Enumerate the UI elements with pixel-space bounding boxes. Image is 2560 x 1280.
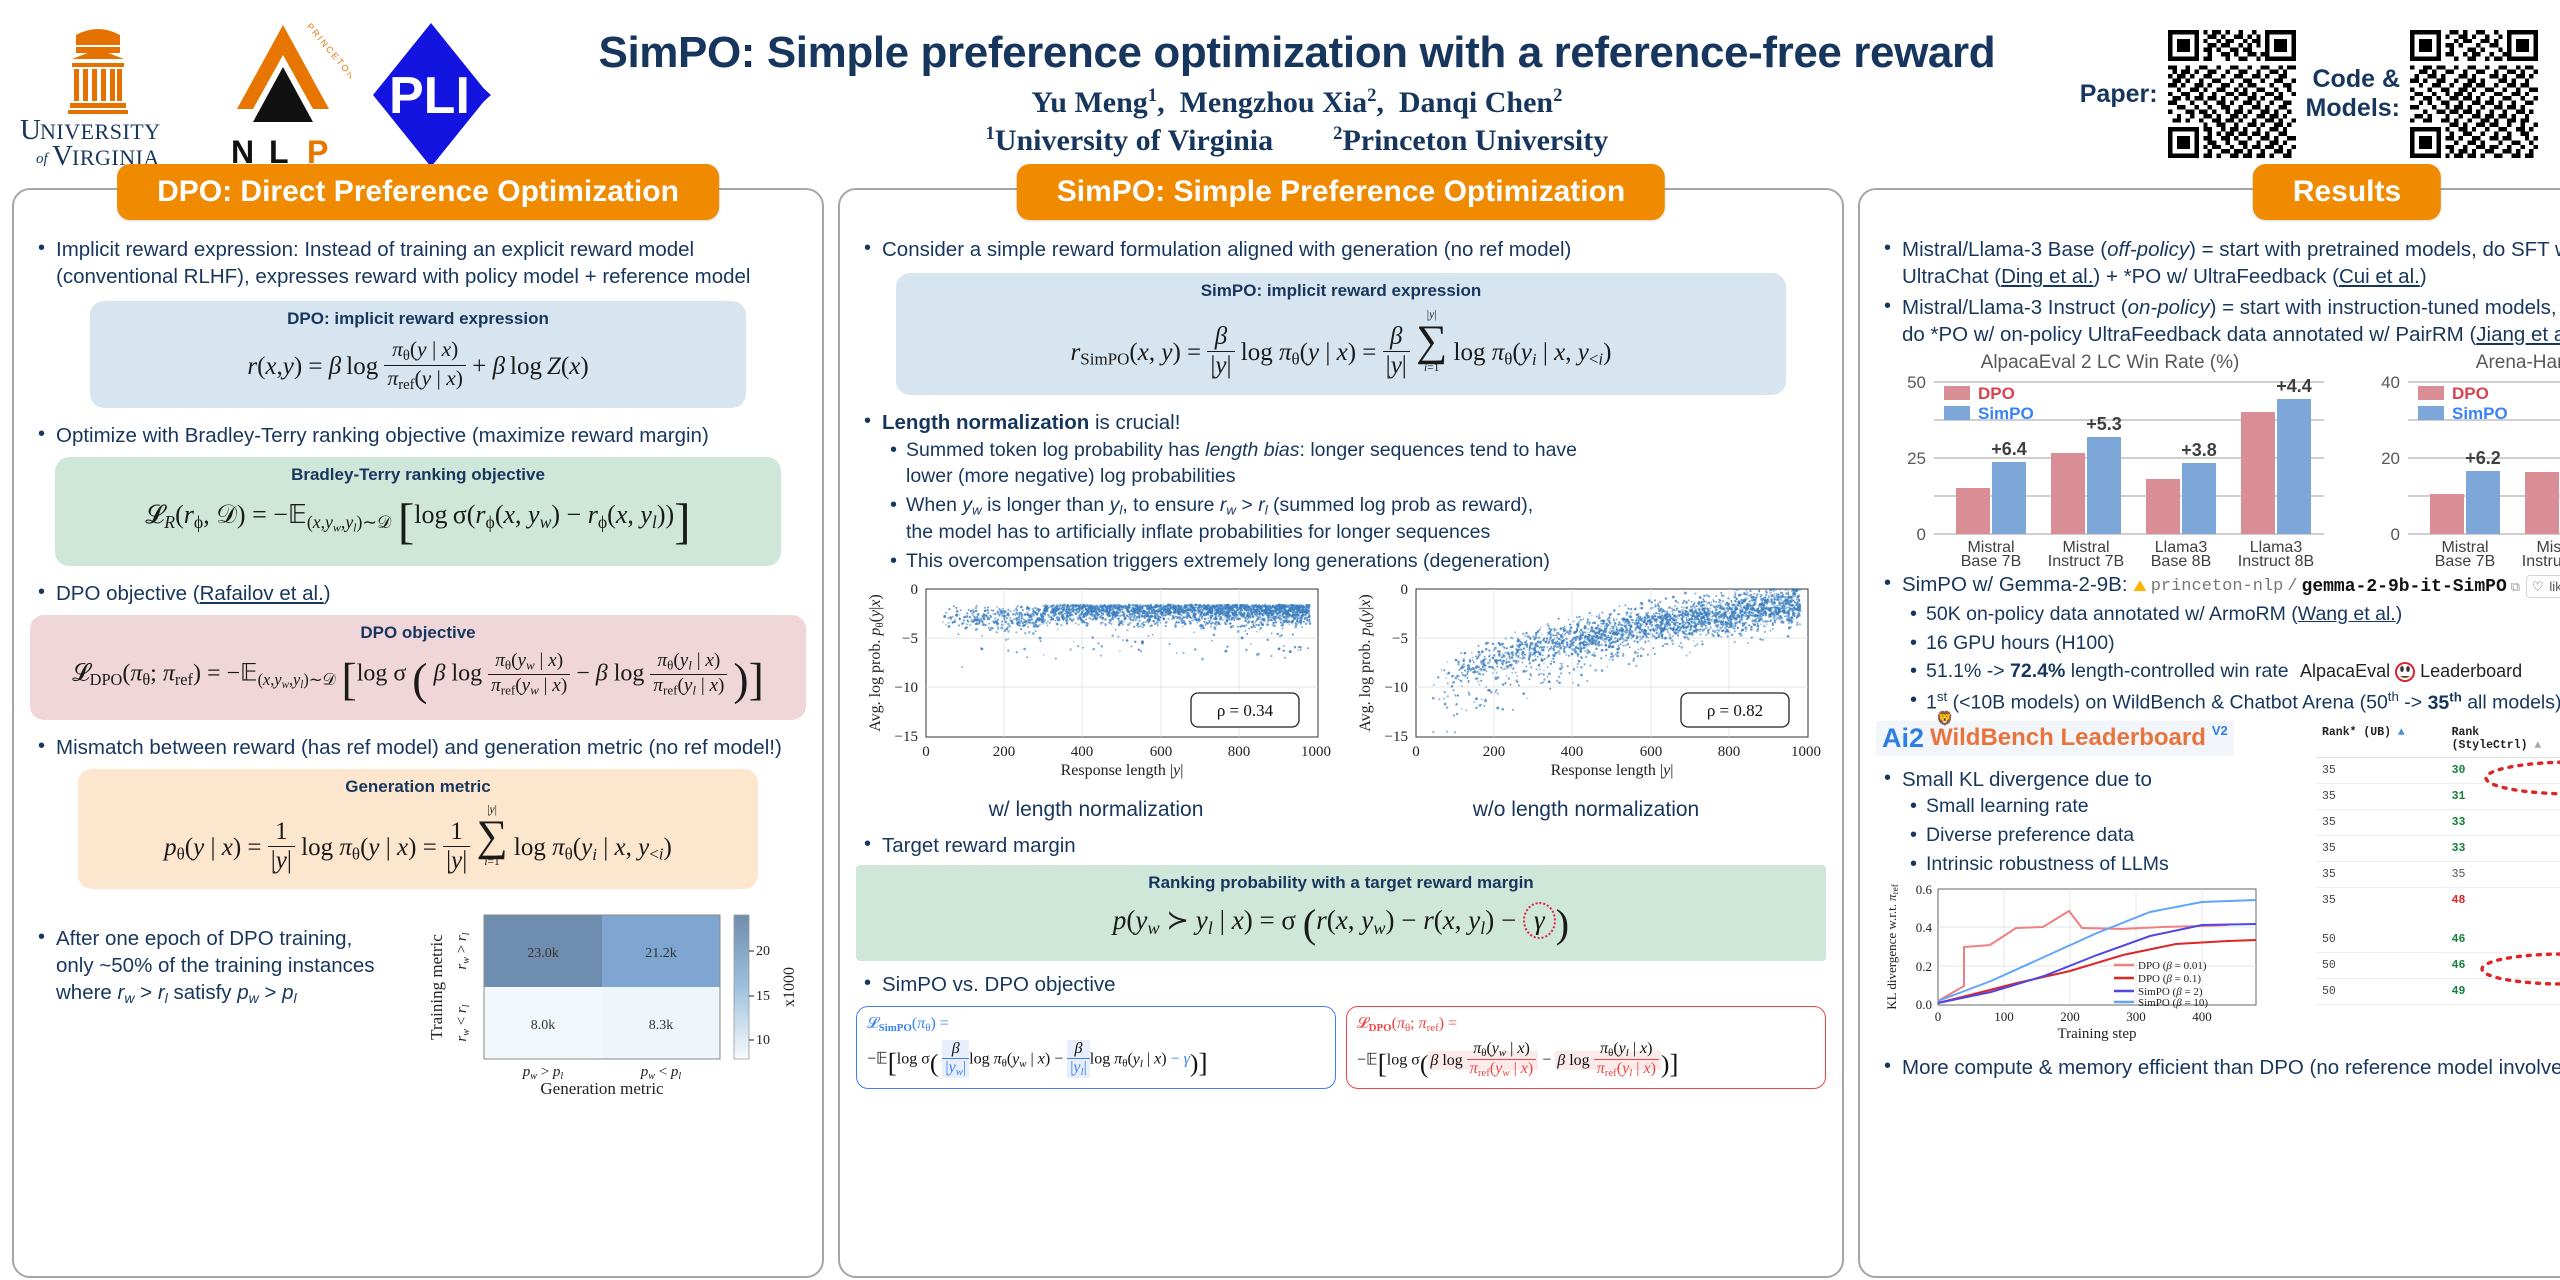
pli-logo: PLI <box>369 17 494 172</box>
huggingface-icon: ⛰ <box>2133 577 2146 598</box>
cell-rank-stylectrl: 49 <box>2446 978 2560 1004</box>
rafailov-link[interactable]: Rafailov et al. <box>200 582 324 605</box>
heart-icon: ♡ <box>2532 578 2544 595</box>
arena-hard-bar-chart: Arena-Hard Win Rate (%) 40 20 0 DPO SimP… <box>2350 352 2560 567</box>
length-norm-bold: Length normalization <box>882 411 1089 434</box>
poster-columns: DPO: Direct Preference Optimization Impl… <box>0 188 2560 1278</box>
bradley-terry-box: Bradley-Terry ranking objective 𝓛R(rϕ, 𝒟… <box>55 457 781 566</box>
r2-l1a: Mistral/Llama-3 Instruct ( <box>1902 296 2128 319</box>
list-item: Implicit reward expression: Instead of t… <box>30 236 806 291</box>
sub1-l2: lower (more negative) log probabilities <box>906 465 1236 487</box>
list-item: Mistral/Llama-3 Base (off-policy) = star… <box>1876 236 2560 291</box>
column-simpo-title: SimPO: Simple Preference Optimization <box>1017 164 1665 220</box>
bradley-terry-equation: 𝓛R(rϕ, 𝒟) = −𝔼(x,yw,yl)∼𝒟 [log σ(rϕ(x, y… <box>69 486 767 556</box>
svg-text:PLI: PLI <box>389 67 470 125</box>
simpo-bullet-list-4: SimPO vs. DPO objective <box>856 971 1826 998</box>
bradley-terry-caption: Bradley-Terry ranking objective <box>69 465 767 485</box>
cell-rank-stylectrl: 31 <box>2446 783 2560 809</box>
gemma-label: SimPO w/ Gemma-2-9B: <box>1902 573 2128 596</box>
list-item: Optimize with Bradley-Terry ranking obje… <box>30 422 806 449</box>
col-header-rank-sc-l2: (StyleCtrl) <box>2452 739 2528 752</box>
list-item: SimPO vs. DPO objective <box>856 971 1826 998</box>
wildbench-row: Ai2 🦁 WildBench Leaderboard V2 Small KL … <box>1876 721 2560 1048</box>
dpo-bullet-list-5: After one epoch of DPO training, only ~5… <box>30 901 400 1011</box>
sub1-l1a: Summed token log probability has <box>906 439 1205 461</box>
list-item: Small KL divergence due to Small learnin… <box>1876 766 2306 878</box>
hf-org: princeton-nlp <box>2151 576 2284 599</box>
svg-text:200: 200 <box>993 744 1016 760</box>
col-header-rank-ub-label: Rank* (UB) <box>2322 726 2391 739</box>
col-header-rank-sc[interactable]: Rank(StyleCtrl) ▲ <box>2446 721 2560 758</box>
wildbench-logo[interactable]: Ai2 🦁 WildBench Leaderboard V2 <box>1876 721 2234 756</box>
svg-text:8.3k: 8.3k <box>649 1018 674 1033</box>
dpo-objective-card: 𝓛DPO(πθ; πref) = −𝔼[log σ(β log πθ(yw | … <box>1346 1006 1826 1089</box>
dpo-bottom-row: After one epoch of DPO training, only ~5… <box>30 901 806 1106</box>
dpo-implicit-reward-box: DPO: implicit reward expression r(x,y) =… <box>90 301 746 408</box>
list-item: After one epoch of DPO training, only ~5… <box>30 925 400 1008</box>
logo-group: U NIVERSITY of V IRGINIA PRINCETON N L P… <box>0 17 494 172</box>
list-item: Intrinsic robustness of LLMs <box>1902 852 2306 878</box>
list-item: Mismatch between reward (has ref model) … <box>30 734 806 761</box>
dpo-objective-rhs: −𝔼[log σ(β log πθ(yw | x)πref(yw | x) − … <box>1357 1040 1815 1080</box>
alpacaeval-leaderboard-badge[interactable]: AlpacaEval Leaderboard <box>2300 660 2522 684</box>
list-item: When yw is longer than yl, to ensure rw … <box>882 493 1826 545</box>
list-item: Target reward margin <box>856 832 1826 859</box>
column-results-title: Results <box>2253 164 2441 220</box>
g-sub3b: 72.4% <box>2010 660 2065 682</box>
lion-icon: 🦁 <box>1936 710 1953 727</box>
simpo-implicit-reward-equation: rSimPO(x, y) = β|y| log πθ(y | x) = β|y|… <box>910 302 1772 385</box>
poster-header: U NIVERSITY of V IRGINIA PRINCETON N L P… <box>0 0 2560 188</box>
length-norm-sublist: Summed token log probability has length … <box>882 438 1826 574</box>
length-norm-rest: is crucial! <box>1089 411 1180 434</box>
author-list: Yu Meng1, Mengzhou Xia2, Danqi Chen2 <box>514 85 2080 120</box>
kl-divergence-chart: 0.6 0.4 0.2 0.0 0 100 200 300 400 Traini… <box>1876 883 2296 1043</box>
list-item: Consider a simple reward formulation ali… <box>856 236 1826 263</box>
cell-rank-ub: 35 <box>2316 861 2446 887</box>
simpo-bullet-list-3: Target reward margin <box>856 832 1826 859</box>
gamma-highlight: γ <box>1523 902 1556 939</box>
dpo-objective-equation: 𝓛DPO(πθ; πref) = −𝔼(x,yw,yl)∼𝒟 [log σ ( … <box>44 644 792 709</box>
g-sub1a: 50K on-policy data annotated w/ ArmoRM ( <box>1926 603 2298 625</box>
table-header-row: Rank* (UB) ▲ Rank(StyleCtrl) ▲ Model <box>2316 721 2560 758</box>
svg-text:−15: −15 <box>895 729 918 745</box>
simpo-bullet-list-1: Consider a simple reward formulation ali… <box>856 236 1826 263</box>
col-header-rank-sc-l1: Rank <box>2452 726 2480 739</box>
list-item: 16 GPU hours (H100) <box>1902 631 2560 657</box>
simpo-implicit-reward-caption: SimPO: implicit reward expression <box>910 281 1772 301</box>
list-item: DPO objective (Rafailov et al.) <box>30 580 806 607</box>
code-models-qr-code[interactable] <box>2410 30 2538 158</box>
simpo-objective-lhs: 𝓛SimPO(πθ) = <box>867 1015 1325 1034</box>
scatter-plot-row: points 0 −5 −10 −15 0 200 400 600 800 10… <box>856 581 1826 822</box>
page-title: SimPO: Simple preference optimization wi… <box>514 30 2080 76</box>
leaderboard-label: Leaderboard <box>2420 660 2522 684</box>
svg-text:21.2k: 21.2k <box>645 946 677 961</box>
jiang-link[interactable]: Jiang et al. <box>2476 323 2560 346</box>
g-sub3c: length-controlled win rate <box>2065 660 2288 682</box>
svg-text:U: U <box>20 114 41 146</box>
scatter-with-length-norm: points 0 −5 −10 −15 0 200 400 600 800 10… <box>856 581 1336 822</box>
col-header-rank-ub[interactable]: Rank* (UB) ▲ <box>2316 721 2446 758</box>
dpo-implicit-reward-equation: r(x,y) = β log πθ(y | x)πref(y | x) + β … <box>104 330 732 398</box>
wildbench-leaderboard-table-wrap: Rank* (UB) ▲ Rank(StyleCtrl) ▲ Model 353… <box>2316 721 2560 1048</box>
svg-text:10: 10 <box>756 1033 770 1048</box>
list-item: Summed token log probability has length … <box>882 438 1826 490</box>
list-item: More compute & memory efficient than DPO… <box>1876 1054 2560 1081</box>
results-bullet-list-1: Mistral/Llama-3 Base (off-policy) = star… <box>1876 236 2560 348</box>
cui-link[interactable]: Cui et al. <box>2339 265 2420 288</box>
wildbench-left: Ai2 🦁 WildBench Leaderboard V2 Small KL … <box>1876 721 2306 1048</box>
svg-text:8.0k: 8.0k <box>531 1018 556 1033</box>
wildbench-version: V2 <box>2212 723 2228 738</box>
hf-like-button[interactable]: ♡like122 <box>2526 575 2560 598</box>
dpo-objective-bullet-pre: DPO objective ( <box>56 582 200 605</box>
svg-text:15: 15 <box>756 989 770 1004</box>
svg-text:of: of <box>36 151 50 167</box>
table-row: 5049Gemma-2-9b-it <box>2316 978 2560 1004</box>
qr-paper-label: Paper: <box>2080 80 2158 109</box>
cell-rank-ub: 35 <box>2316 809 2446 835</box>
ranking-prob-equation: p(yw ≻ yl | x) = σ (r(x, yw) − r(x, yl) … <box>870 894 1812 951</box>
sub2-l2: the model has to artificially inflate pr… <box>906 521 1490 543</box>
scatter-left-caption: w/ length normalization <box>856 798 1336 822</box>
svg-text:1000: 1000 <box>1301 744 1331 760</box>
simpo-objective-card: 𝓛SimPO(πθ) = −𝔼[log σ( β|yw|log πθ(yw | … <box>856 1006 1336 1089</box>
dpo-bullet-list-3: DPO objective (Rafailov et al.) <box>30 580 806 607</box>
svg-text:V: V <box>52 140 73 172</box>
kl-bullet-list: Small KL divergence due to Small learnin… <box>1876 766 2306 878</box>
dpo-bullet1-line1: Implicit reward expression: Instead of t… <box>56 238 694 261</box>
hf-like-label: like <box>2549 578 2560 595</box>
ding-link[interactable]: Ding et al. <box>2001 265 2093 288</box>
r1-l1c: ) = start with pretrained models, do SFT… <box>2189 238 2560 261</box>
r1-l2a: UltraChat ( <box>1902 265 2001 288</box>
svg-text:Generation metric: Generation metric <box>540 1079 664 1098</box>
list-item: Mistral/Llama-3 Instruct (on-policy) = s… <box>1876 294 2560 349</box>
qr-group: Paper: <box>2080 30 2560 158</box>
hf-slash: / <box>2287 576 2297 599</box>
g-sub3a: 51.1% -> <box>1926 660 2010 682</box>
cell-rank-stylectrl: 33 <box>2446 835 2560 861</box>
affiliations: 1University of Virginia 2Princeton Unive… <box>514 123 2080 158</box>
list-item: 1st (<10B models) on WildBench & Chatbot… <box>1902 688 2560 716</box>
list-item: Length normalization is crucial! Summed … <box>856 409 1826 574</box>
svg-text:x1000: x1000 <box>781 967 798 1007</box>
list-item: Small learning rate <box>1902 794 2306 820</box>
objective-comparison-row: 𝓛SimPO(πθ) = −𝔼[log σ( β|yw|log πθ(yw | … <box>856 1006 1826 1089</box>
dpo-bullet1-line2: (conventional RLHF), expresses reward wi… <box>56 265 750 288</box>
svg-text:Avg. log prob. pθ(y|x): Avg. log prob. pθ(y|x) <box>867 594 886 732</box>
svg-text:0: 0 <box>922 744 930 760</box>
r2-l1b: on-policy <box>2128 296 2210 319</box>
r1-l2c: ) + *PO w/ UltraFeedback ( <box>2093 265 2339 288</box>
table-row: 5046Qwen2-72B-Instruct <box>2316 952 2560 978</box>
dpo-bullet5-line1: After one epoch of DPO training, <box>56 927 352 950</box>
sub1-l1b: length bias <box>1205 439 1299 461</box>
table-row: 5046Command R+ (04-2024) <box>2316 920 2560 953</box>
generation-metric-equation: pθ(y | x) = 1|y| log πθ(y | x) = 1|y| |y… <box>92 798 744 879</box>
svg-text:23.0k: 23.0k <box>527 946 559 961</box>
ranking-prob-caption: Ranking probability with a target reward… <box>870 873 1812 893</box>
list-item: 50K on-policy data annotated w/ ArmoRM (… <box>1902 602 2560 628</box>
alpacaeval-bar-chart: AlpacaEval 2 LC Win Rate (%) 50 25 0 DPO… <box>1876 352 2344 567</box>
table-row: 3531Gemma-2-9b-it-SimPO <box>2316 783 2560 809</box>
cell-rank-stylectrl: 46 <box>2446 920 2560 953</box>
wildbench-logo-text: WildBench Leaderboard <box>1930 724 2206 751</box>
huggingface-model-chip[interactable]: ⛰princeton-nlp/gemma-2-9b-it-SimPO⧉ <box>2133 576 2520 600</box>
svg-text:800: 800 <box>1228 744 1251 760</box>
kl-sublist: Small learning rate Diverse preference d… <box>1902 794 2306 878</box>
dpo-bullet-list-4: Mismatch between reward (has ref model) … <box>30 734 806 761</box>
svg-text:Response length |y|: Response length |y| <box>1061 762 1184 779</box>
alpacaeval-label: AlpacaEval <box>2300 660 2390 684</box>
cell-rank-stylectrl: 46 <box>2446 952 2560 978</box>
cell-rank-ub: 35 <box>2316 783 2446 809</box>
rho-annotation-right: ρ = 0.82 <box>1707 701 1763 720</box>
svg-text:−10: −10 <box>895 680 918 696</box>
list-item: Diverse preference data <box>1902 823 2306 849</box>
svg-text:rw > rl: rw > rl <box>454 932 472 969</box>
cell-rank-ub: 50 <box>2316 952 2446 978</box>
alpaca-icon <box>2394 661 2416 683</box>
simpo-objective-rhs: −𝔼[log σ( β|yw|log πθ(yw | x) − β|yl|log… <box>867 1040 1325 1079</box>
princeton-nlp-logo: PRINCETON N L P <box>221 17 351 172</box>
ranking-prob-box: Ranking probability with a target reward… <box>856 865 1826 961</box>
paper-qr-code[interactable] <box>2168 30 2296 158</box>
r2-l2a: do *PO w/ on-policy UltraFeedback data a… <box>1902 323 2476 346</box>
sort-icon[interactable]: ▲ <box>2534 739 2541 752</box>
list-item: 51.1% -> 72.4% length-controlled win rat… <box>1902 659 2560 685</box>
cell-rank-ub: 35 <box>2316 757 2446 783</box>
list-item: SimPO w/ Gemma-2-9B: ⛰princeton-nlp/gemm… <box>1876 571 2560 717</box>
g-sub1c: ) <box>2396 603 2403 625</box>
wang-link[interactable]: Wang et al. <box>2298 603 2396 625</box>
dpo-objective-bullet-post: ) <box>324 582 331 605</box>
simpo-bullet-list-2: Length normalization is crucial! Summed … <box>856 409 1826 574</box>
svg-text:400: 400 <box>1071 744 1094 760</box>
qr-code-models-label: Code & Models: <box>2306 65 2400 123</box>
scatter-without-length-norm: 0 −5 −10 −15 0 200 400 600 800 1000 Resp… <box>1346 581 1826 822</box>
cell-rank-stylectrl: 35 <box>2446 861 2560 887</box>
table-row: 3533Deepseek-Coder-v2-0724 <box>2316 809 2560 835</box>
dpo-confusion-heatmap: 23.0k 21.2k 8.0k 8.3k rw > rl rw < rl Tr… <box>406 901 806 1106</box>
table-row: 3548Gemini-1.5-Flash-8B-001 <box>2316 887 2560 920</box>
ai2-logo-text: Ai2 <box>1882 723 1924 754</box>
gemma-bullet-list: SimPO w/ Gemma-2-9B: ⛰princeton-nlp/gemm… <box>1876 571 2560 717</box>
scatter-right-caption: w/o length normalization <box>1346 798 1826 822</box>
sub1-l1c: : longer sequences tend to have <box>1300 439 1578 461</box>
svg-text:rw < rl: rw < rl <box>454 1004 472 1041</box>
copy-icon[interactable]: ⧉ <box>2511 579 2520 596</box>
svg-text:0: 0 <box>911 582 919 598</box>
generation-metric-box: Generation metric pθ(y | x) = 1|y| log π… <box>78 769 758 889</box>
cell-rank-stylectrl: 30 <box>2446 757 2560 783</box>
table-body: 3530Gemma-2-27b-it3531Gemma-2-9b-it-SimP… <box>2316 757 2560 1004</box>
column-results: Results Mistral/Llama-3 Base (off-policy… <box>1858 188 2560 1278</box>
dpo-objective-caption: DPO objective <box>44 623 792 643</box>
dpo-bullet-list-1: Implicit reward expression: Instead of t… <box>30 236 806 291</box>
column-simpo: SimPO: Simple Preference Optimization Co… <box>838 188 1844 1278</box>
simpo-implicit-reward-box: SimPO: implicit reward expression rSimPO… <box>896 273 1786 395</box>
cell-rank-ub: 35 <box>2316 835 2446 861</box>
qr-code-label-line2: Models: <box>2306 94 2400 122</box>
cell-rank-ub: 35 <box>2316 887 2446 920</box>
wildbench-leaderboard-table: Rank* (UB) ▲ Rank(StyleCtrl) ▲ Model 353… <box>2316 721 2560 1005</box>
dpo-implicit-reward-caption: DPO: implicit reward expression <box>104 309 732 329</box>
gemma-sublist: 50K on-policy data annotated w/ ArmoRM (… <box>1902 602 2560 717</box>
cell-rank-ub: 50 <box>2316 978 2446 1004</box>
svg-text:600: 600 <box>1150 744 1173 760</box>
svg-text:Training metric: Training metric <box>427 933 446 1039</box>
sort-icon[interactable]: ▲ <box>2398 726 2405 739</box>
title-block: SimPO: Simple preference optimization wi… <box>494 30 2080 158</box>
svg-text:−5: −5 <box>902 631 918 647</box>
column-dpo: DPO: Direct Preference Optimization Impl… <box>12 188 824 1278</box>
svg-text:PRINCETON: PRINCETON <box>305 21 351 82</box>
rho-annotation-left: ρ = 0.34 <box>1217 701 1274 720</box>
dpo-bullet5-line2: only ~50% of the training instances <box>56 954 375 977</box>
column-dpo-title: DPO: Direct Preference Optimization <box>117 164 719 220</box>
cell-rank-stylectrl: 48 <box>2446 887 2560 920</box>
bar-chart-row: AlpacaEval 2 LC Win Rate (%) 50 25 0 DPO… <box>1876 352 2560 567</box>
results-final-bullet: More compute & memory efficient than DPO… <box>1876 1054 2560 1081</box>
table-row: 3530Gemma-2-27b-it <box>2316 757 2560 783</box>
generation-metric-caption: Generation metric <box>92 777 744 797</box>
r1-l2e: ) <box>2420 265 2427 288</box>
list-item: This overcompensation triggers extremely… <box>882 549 1826 575</box>
dpo-objective-lhs: 𝓛DPO(πθ; πref) = <box>1357 1015 1815 1034</box>
qr-code-label-line1: Code & <box>2313 65 2401 93</box>
r2-l1c: ) = start with instruction-tuned models, <box>2210 296 2557 319</box>
dpo-bullet5-line3: where rw > rl satisfy pw > pl <box>56 981 297 1004</box>
table-row: 3533Command R+ (08-2024) <box>2316 835 2560 861</box>
kl-bullet: Small KL divergence due to <box>1902 768 2152 791</box>
dpo-bullet-list-2: Optimize with Bradley-Terry ranking obje… <box>30 422 806 449</box>
svg-text:20: 20 <box>756 944 770 959</box>
table-row: 3535Yi-Large <box>2316 861 2560 887</box>
r1-l1a: Mistral/Llama-3 Base ( <box>1902 238 2107 261</box>
hf-model-name: gemma-2-9b-it-SimPO <box>2302 576 2507 600</box>
uva-logo: U NIVERSITY of V IRGINIA <box>18 17 203 172</box>
r1-l1b: off-policy <box>2107 238 2189 261</box>
dpo-objective-box: DPO objective 𝓛DPO(πθ; πref) = −𝔼(x,yw,y… <box>30 615 806 719</box>
cell-rank-stylectrl: 33 <box>2446 809 2560 835</box>
cell-rank-ub: 50 <box>2316 920 2446 953</box>
